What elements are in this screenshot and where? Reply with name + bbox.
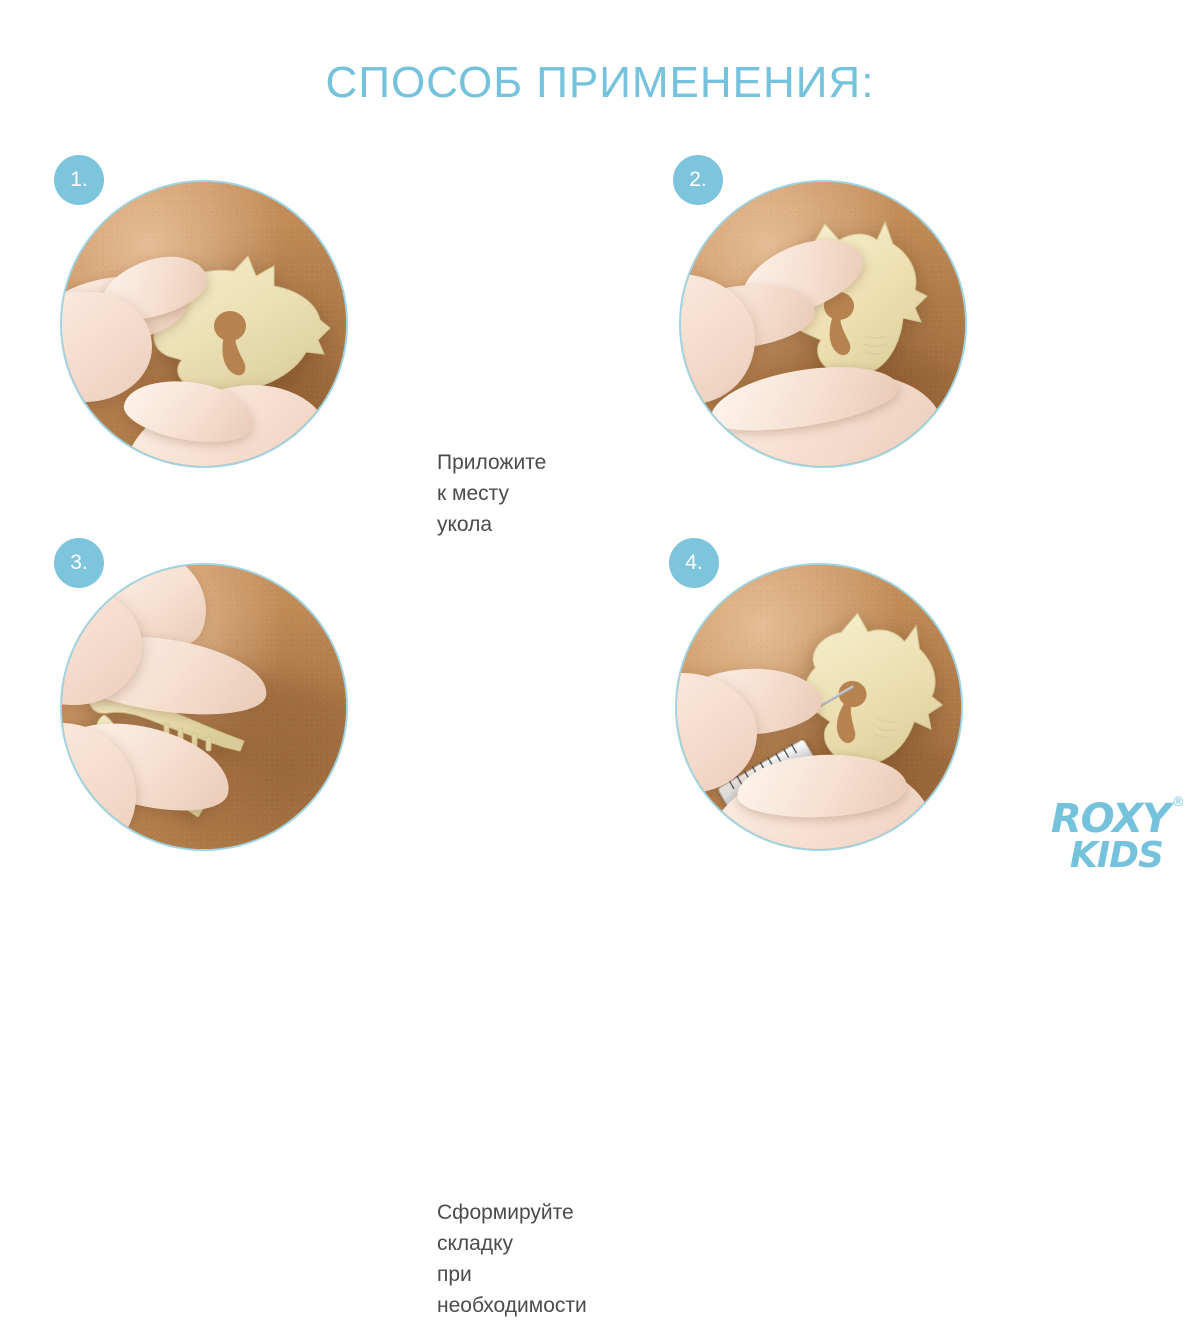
step-number-badge-3: 3. [54,538,104,588]
step-number-badge-1: 1. [54,155,104,205]
step-caption-1: Приложите к месту укола [437,447,546,540]
brand-logo-line1: ROXY® [1051,801,1182,838]
step-photo-3 [60,563,348,851]
registered-trademark-icon: ® [1172,795,1184,810]
step-photo-4 [675,563,963,851]
step-number-badge-2: 2. [673,155,723,205]
step-number-badge-4: 4. [669,538,719,588]
brand-logo-kids-text: KIDS [1051,839,1182,872]
brand-logo: ROXY® KIDS [1051,801,1182,872]
steps-grid: 1. [0,0,1200,900]
step-photo-1 [60,180,348,468]
brand-logo-roxy-text: ROXY [1051,796,1170,842]
step-caption-3: Сформируйте складку при необходимости [437,1197,587,1321]
step-photo-2 [679,180,967,468]
